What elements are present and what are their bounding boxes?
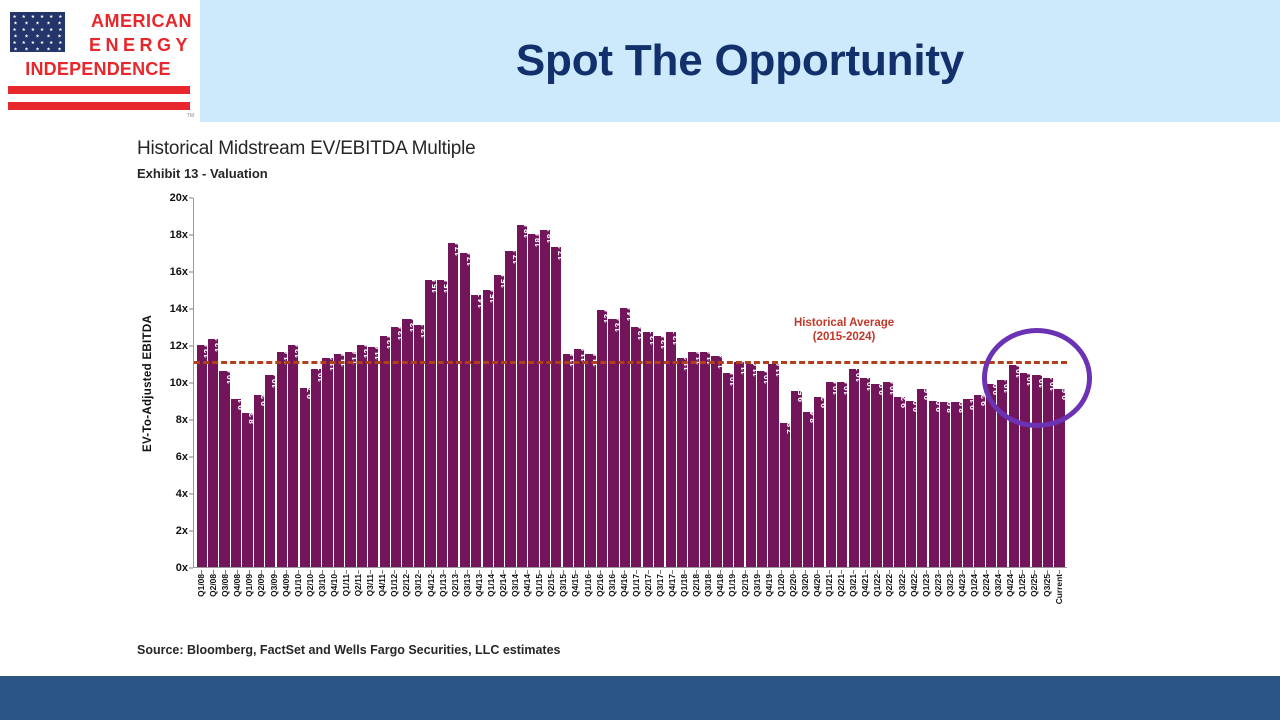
bar: 10.7x: [849, 369, 859, 567]
x-axis-tick-text: Q3/09: [269, 574, 279, 597]
bar: 10.2x: [860, 378, 870, 567]
logo-rule-bottom: [8, 102, 190, 110]
star-icon: [25, 34, 29, 38]
x-axis-tick-label: Q1/20: [775, 570, 786, 626]
x-axis-tick-label: Q3/24: [993, 570, 1004, 626]
x-axis-tick-label: Q2/19: [739, 570, 750, 626]
bar: 7.8x: [780, 423, 790, 567]
bar-value-label: 12.7x: [671, 325, 681, 346]
bar: 9.2x: [894, 397, 904, 567]
x-axis-tick-label: Q4/17: [667, 570, 678, 626]
star-icon: [13, 28, 17, 32]
historical-average-label-line1: Historical Average: [794, 316, 894, 330]
us-flag-icon: [10, 12, 65, 52]
chart-title: Historical Midstream EV/EBITDA Multiple: [137, 138, 1067, 160]
x-axis-tick-text: Q1/11: [341, 574, 351, 596]
bar: 12.7x: [643, 332, 653, 567]
x-axis-tick-text: Q3/24: [993, 574, 1003, 597]
bar: 12.7x: [666, 332, 676, 567]
bar: 10.0x: [837, 382, 847, 567]
y-axis-tick-label: 0x: [176, 562, 188, 574]
bar: 18.5x: [517, 225, 527, 567]
star-icon: [25, 47, 29, 51]
x-axis-tick-label: Q2/24: [981, 570, 992, 626]
star-icon: [22, 15, 26, 19]
x-axis-tick-text: Q1/10: [293, 574, 303, 597]
x-axis-tick-text: Q3/20: [800, 574, 810, 597]
bar-value-label: 10.6x: [225, 364, 235, 385]
x-axis-tick-label: Q4/12: [425, 570, 436, 626]
x-axis-tick-text: Q1/21: [824, 574, 834, 597]
bar: 10.4x: [265, 375, 275, 567]
x-axis-tick-text: Q1/17: [631, 574, 641, 597]
star-icon: [31, 28, 35, 32]
x-axis-tick-label: Q2/18: [691, 570, 702, 626]
x-axis-tick-label: Q4/16: [618, 570, 629, 626]
bar: 9.0x: [906, 401, 916, 568]
x-axis-tick-text: Q3/21: [848, 574, 858, 597]
x-axis-tick-text: Q4/12: [426, 574, 436, 597]
bar: 9.0x: [929, 401, 939, 568]
bar: 11.5x: [585, 354, 595, 567]
x-axis-tick-text: Q4/09: [281, 574, 291, 597]
x-axis-tick-text: Q2/22: [884, 574, 894, 597]
x-axis-tick-text: Q2/25: [1029, 574, 1039, 597]
y-axis-tick-label: 4x: [176, 488, 188, 500]
x-axis-tick-label: Q2/25: [1029, 570, 1040, 626]
bar-value-label: 12.3x: [213, 332, 223, 353]
historical-average-line: [194, 361, 1067, 364]
bar: 13.9x: [597, 310, 607, 567]
x-axis-tick-label: Q3/22: [896, 570, 907, 626]
x-axis-tick-text: Q2/15: [546, 574, 556, 597]
x-axis-tick-label: Q2/17: [642, 570, 653, 626]
x-axis-tick-label: Q1/11: [341, 570, 352, 626]
bar-value-label: 11.4x: [716, 349, 726, 369]
x-axis-tick-label: Q3/21: [848, 570, 859, 626]
logo-rule-top: [8, 86, 190, 94]
x-axis-tick-text: Q2/21: [836, 574, 846, 597]
brand-logo: AMERICAN ENERGY INDEPENDENCE TM: [0, 0, 200, 122]
bar: 15.5x: [437, 280, 447, 567]
x-axis-tick-text: Q4/20: [812, 574, 822, 597]
y-axis-title: EV-To-Adjusted EBITDA: [139, 198, 157, 568]
bar-value-label: 17.3x: [556, 240, 566, 261]
x-axis-tick-text: Q1/13: [438, 574, 448, 597]
x-axis-tick-label: Q3/20: [800, 570, 811, 626]
x-axis-tick-text: Q2/16: [595, 574, 605, 597]
star-icon: [47, 47, 51, 51]
x-axis-tick-text: Q4/23: [957, 574, 967, 597]
star-icon: [14, 47, 18, 51]
star-icon: [58, 15, 62, 19]
x-axis-tick-label: Q2/21: [836, 570, 847, 626]
x-axis-tick-text: Q2/20: [788, 574, 798, 597]
x-axis-tick-text: Q2/14: [498, 574, 508, 597]
y-axis-tick-label: 18x: [170, 229, 188, 241]
chart-subtitle: Exhibit 13 - Valuation: [137, 166, 1067, 181]
bar: 11.9x: [368, 347, 378, 567]
x-axis-tick-label: Q1/17: [630, 570, 641, 626]
x-axis-tick-label: Q4/13: [473, 570, 484, 626]
x-axis-tick-text: Q3/17: [655, 574, 665, 597]
bar: 9.6x: [917, 389, 927, 567]
x-axis-tick-text: Q4/24: [1005, 574, 1015, 597]
x-axis-tick-text: Q4/22: [909, 574, 919, 597]
x-axis-tick-label: Q4/08: [232, 570, 243, 626]
x-axis-tick-text: Q1/08: [196, 574, 206, 597]
bar: 11.3x: [677, 358, 687, 567]
x-axis-tick-text: Q1/24: [969, 574, 979, 597]
x-axis-tick-label: Q4/15: [570, 570, 581, 626]
bar: 15.5x: [425, 280, 435, 567]
x-axis-tick-label: Q3/11: [365, 570, 376, 626]
star-icon: [14, 34, 18, 38]
star-icon: [36, 34, 40, 38]
x-axis-tick-text: Q1/25: [1017, 574, 1027, 597]
bar-series: 12.0x12.3x10.6x9.1x8.3x9.3x10.4x11.6x12.…: [194, 198, 1067, 567]
bar: 15.0x: [483, 290, 493, 568]
x-axis-tick-text: Q3/11: [365, 574, 375, 596]
bar: 9.9x: [871, 384, 881, 567]
bar-value-label: 18.2x: [545, 223, 555, 244]
x-axis-tick-label: Q1/15: [534, 570, 545, 626]
x-axis-tick-text: Q3/12: [413, 574, 423, 597]
bar: 10.0x: [826, 382, 836, 567]
x-axis-tick-text: Q1/12: [389, 574, 399, 597]
bar: 9.7x: [300, 388, 310, 567]
star-icon: [31, 15, 35, 19]
bar: 11.6x: [700, 352, 710, 567]
bar: 15.8x: [494, 275, 504, 567]
bar: 9.2x: [814, 397, 824, 567]
bar: 10.5x: [723, 373, 733, 567]
x-axis-tick-text: Q3/16: [607, 574, 617, 597]
y-axis-tick-label: 8x: [176, 414, 188, 426]
bar: 9.1x: [231, 399, 241, 567]
x-axis-tick-text: Q3/08: [220, 574, 230, 597]
bar-value-label: 17.0x: [465, 245, 475, 266]
bar: 13.4x: [608, 319, 618, 567]
x-axis-tick-text: Q3/15: [558, 574, 568, 597]
x-axis-tick-text: Q1/15: [534, 574, 544, 597]
bar: 11.0x: [746, 364, 756, 568]
x-axis-tick-text: Q1/14: [486, 574, 496, 597]
y-axis-tick-label: 14x: [170, 303, 188, 315]
star-icon: [58, 21, 62, 25]
star-icon: [47, 21, 51, 25]
star-icon: [49, 15, 53, 19]
bar: 11.1x: [734, 362, 744, 567]
x-axis-tick-label: Q1/24: [969, 570, 980, 626]
flag-star-row: [10, 21, 65, 25]
x-axis-tick-label: Q1/10: [292, 570, 303, 626]
x-axis-tick-text: Q2/13: [450, 574, 460, 597]
x-axis-tick-text: Q2/17: [643, 574, 653, 597]
bar: 11.8x: [574, 349, 584, 567]
historical-average-annotation: Historical Average (2015-2024): [794, 316, 894, 345]
bar-value-label: 11.0x: [774, 356, 784, 376]
x-axis-tick-label: Q4/20: [812, 570, 823, 626]
x-axis-ticks: Q1/08Q2/08Q3/08Q4/08Q1/09Q2/09Q3/09Q4/09…: [193, 570, 1067, 626]
x-axis-tick-text: Current: [1054, 574, 1064, 604]
x-axis-tick-label: Q1/09: [244, 570, 255, 626]
flag-star-row: [10, 41, 65, 45]
x-axis-tick-text: Q2/11: [353, 574, 363, 596]
x-axis-tick-text: Q2/12: [401, 574, 411, 597]
bar: 10.0x: [883, 382, 893, 567]
x-axis-tick-label: Q4/24: [1005, 570, 1016, 626]
chart-figure: Historical Midstream EV/EBITDA Multiple …: [137, 138, 1067, 673]
x-axis-tick-label: Q2/12: [401, 570, 412, 626]
x-axis-tick-text: Q3/14: [510, 574, 520, 597]
bar: 14.0x: [620, 308, 630, 567]
x-axis-tick-text: Q1/16: [583, 574, 593, 597]
bar: 9.9x: [986, 384, 996, 567]
y-axis-tick-label: 12x: [170, 340, 188, 352]
x-axis-tick-label: Q2/23: [932, 570, 943, 626]
bar: 8.4x: [803, 412, 813, 567]
bar: 11.0x: [768, 364, 778, 568]
bar: 12.3x: [208, 339, 218, 567]
bar: 12.5x: [380, 336, 390, 567]
x-axis-tick-label: Q3/23: [944, 570, 955, 626]
x-axis-tick-text: Q1/23: [921, 574, 931, 597]
bar: 17.5x: [448, 243, 458, 567]
star-icon: [36, 47, 40, 51]
bar-value-label: 14.0x: [625, 301, 635, 322]
bar: 18.2x: [540, 230, 550, 567]
y-axis-ticks: 0x2x4x6x8x10x12x14x16x18x20x: [157, 198, 193, 568]
bar: 9.1x: [963, 399, 973, 567]
star-icon: [40, 28, 44, 32]
x-axis-tick-text: Q4/16: [619, 574, 629, 597]
star-icon: [14, 21, 18, 25]
x-axis-tick-label: Q4/10: [328, 570, 339, 626]
star-icon: [36, 21, 40, 25]
flag-star-row: [10, 28, 65, 32]
star-icon: [58, 41, 62, 45]
x-axis-tick-label: Q3/08: [220, 570, 231, 626]
bar: 12.0x: [197, 345, 207, 567]
star-icon: [47, 34, 51, 38]
x-axis-tick-text: Q3/22: [897, 574, 907, 597]
x-axis-tick-text: Q1/18: [679, 574, 689, 597]
x-axis-tick-label: Q4/14: [522, 570, 533, 626]
bar-value-label: 10.0x: [888, 375, 898, 396]
bar: 10.7x: [311, 369, 321, 567]
star-icon: [49, 41, 53, 45]
x-axis-tick-text: Q2/08: [208, 574, 218, 597]
x-axis-tick-label: Q3/09: [268, 570, 279, 626]
x-axis-tick-text: Q2/10: [305, 574, 315, 597]
logo-word-american: AMERICAN: [70, 12, 192, 30]
bar: 14.7x: [471, 295, 481, 567]
x-axis-tick-label: Q2/16: [594, 570, 605, 626]
x-axis-tick-label: Q2/09: [256, 570, 267, 626]
x-axis-tick-label: Q3/19: [751, 570, 762, 626]
bar: 10.6x: [757, 371, 767, 567]
bar: 17.0x: [460, 253, 470, 568]
bar: 11.6x: [277, 352, 287, 567]
flag-star-row: [10, 15, 65, 19]
x-axis-tick-label: Q1/13: [437, 570, 448, 626]
flag-star-row: [10, 47, 65, 51]
star-icon: [40, 15, 44, 19]
y-axis-tick-label: 10x: [170, 377, 188, 389]
bar: 12.0x: [357, 345, 367, 567]
logo-trademark: TM: [187, 113, 194, 119]
x-axis-tick-text: Q4/11: [377, 574, 387, 596]
x-axis-tick-label: Q3/14: [510, 570, 521, 626]
bar: 11.5x: [563, 354, 573, 567]
chart-source: Source: Bloomberg, FactSet and Wells Far…: [137, 643, 561, 657]
x-axis-tick-label: Q1/19: [727, 570, 738, 626]
x-axis-tick-text: Q4/10: [329, 574, 339, 597]
slide-footer-band: [0, 676, 1280, 720]
plot-area: EV-To-Adjusted EBITDA 0x2x4x6x8x10x12x14…: [137, 198, 1067, 628]
star-icon: [22, 41, 26, 45]
x-axis-tick-label: Q2/20: [787, 570, 798, 626]
x-axis-tick-text: Q4/21: [860, 574, 870, 597]
x-axis-tick-label: Q1/12: [389, 570, 400, 626]
x-axis-tick-label: Q3/10: [316, 570, 327, 626]
x-axis-tick-label: Q1/25: [1017, 570, 1028, 626]
x-axis-tick-text: Q1/19: [727, 574, 737, 597]
bar: 9.5x: [791, 391, 801, 567]
x-axis-tick-text: Q4/18: [715, 574, 725, 597]
plot-canvas: 12.0x12.3x10.6x9.1x8.3x9.3x10.4x11.6x12.…: [193, 198, 1067, 568]
y-axis-tick-label: 2x: [176, 525, 188, 537]
x-axis-tick-label: Q2/13: [449, 570, 460, 626]
x-axis-tick-label: Q4/19: [763, 570, 774, 626]
star-icon: [13, 41, 17, 45]
x-axis-tick-text: Q3/19: [752, 574, 762, 597]
x-axis-tick-label: Q2/15: [546, 570, 557, 626]
x-axis-tick-label: Q4/21: [860, 570, 871, 626]
x-axis-tick-text: Q4/17: [667, 574, 677, 597]
bar: 18.0x: [528, 234, 538, 567]
star-icon: [22, 28, 26, 32]
x-axis-tick-label: Q1/23: [920, 570, 931, 626]
x-axis-tick-label: Q1/18: [679, 570, 690, 626]
x-axis-tick-label: Q4/23: [957, 570, 968, 626]
flag-star-row: [10, 34, 65, 38]
x-axis-tick-label: Q1/16: [582, 570, 593, 626]
x-axis-tick-text: Q2/23: [933, 574, 943, 597]
bar: 8.9x: [951, 402, 961, 567]
x-axis-tick-text: Q4/19: [764, 574, 774, 597]
x-axis-tick-label: Q3/13: [461, 570, 472, 626]
x-axis-tick-label: Q2/11: [353, 570, 364, 626]
star-icon: [58, 28, 62, 32]
x-axis-tick-label: Q3/16: [606, 570, 617, 626]
logo-word-energy: ENERGY: [70, 36, 192, 54]
bar: 12.0x: [288, 345, 298, 567]
slide-header: AMERICAN ENERGY INDEPENDENCE TM Spot The…: [0, 0, 1280, 122]
x-axis-tick-text: Q3/18: [703, 574, 713, 597]
x-axis-tick-text: Q2/24: [981, 574, 991, 597]
x-axis-tick-label: Q4/18: [715, 570, 726, 626]
x-axis-tick-label: Current: [1053, 570, 1064, 626]
bar-value-label: 12.0x: [293, 338, 303, 359]
page-title: Spot The Opportunity: [200, 0, 1280, 122]
bar: 8.9x: [940, 402, 950, 567]
x-axis-tick-text: Q3/23: [945, 574, 955, 597]
bar: 11.5x: [334, 354, 344, 567]
x-axis-tick-label: Q3/17: [655, 570, 666, 626]
bar-value-label: 9.6x: [922, 384, 932, 400]
bar: 10.6x: [219, 371, 229, 567]
x-axis-tick-label: Q3/18: [703, 570, 714, 626]
star-icon: [49, 28, 53, 32]
x-axis-tick-label: Q4/22: [908, 570, 919, 626]
bar: 11.3x: [322, 358, 332, 567]
x-axis-tick-label: Q3/25: [1041, 570, 1052, 626]
x-axis-tick-label: Q4/11: [377, 570, 388, 626]
logo-word-independence: INDEPENDENCE: [4, 60, 192, 78]
star-icon: [40, 41, 44, 45]
x-axis-tick-text: Q4/14: [522, 574, 532, 597]
bar: 12.5x: [654, 336, 664, 567]
historical-average-label-line2: (2015-2024): [794, 330, 894, 344]
opportunity-highlight-ellipse: [982, 328, 1093, 428]
x-axis-tick-text: Q3/10: [317, 574, 327, 597]
bar-value-label: 9.5x: [796, 386, 806, 402]
bar-value-label: 9.1x: [236, 394, 246, 410]
x-axis-tick-text: Q2/09: [256, 574, 266, 597]
x-axis-tick-text: Q2/18: [691, 574, 701, 597]
x-axis-tick-label: Q2/10: [304, 570, 315, 626]
x-axis-tick-text: Q3/25: [1042, 574, 1052, 597]
star-icon: [58, 47, 62, 51]
y-axis-tick-label: 6x: [176, 451, 188, 463]
x-axis-tick-label: Q2/14: [498, 570, 509, 626]
x-axis-tick-text: Q4/15: [570, 574, 580, 597]
x-axis-tick-label: Q1/21: [824, 570, 835, 626]
star-icon: [58, 34, 62, 38]
x-axis-tick-label: Q2/08: [208, 570, 219, 626]
bar: 17.3x: [551, 247, 561, 567]
bar: 9.3x: [974, 395, 984, 567]
x-axis-tick-text: Q1/20: [776, 574, 786, 597]
x-axis-tick-label: Q3/15: [558, 570, 569, 626]
x-axis-tick-text: Q4/13: [474, 574, 484, 597]
x-axis-tick-text: Q1/22: [872, 574, 882, 597]
x-axis-tick-label: Q4/09: [280, 570, 291, 626]
x-axis-tick-label: Q3/12: [413, 570, 424, 626]
x-axis-tick-label: Q1/08: [196, 570, 207, 626]
y-axis-tick-label: 20x: [170, 192, 188, 204]
bar: 11.6x: [688, 352, 698, 567]
star-icon: [31, 41, 35, 45]
bar: 17.1x: [505, 251, 515, 567]
bar: 11.4x: [711, 356, 721, 567]
star-icon: [13, 15, 17, 19]
x-axis-tick-label: Q1/14: [485, 570, 496, 626]
bar: 13.4x: [402, 319, 412, 567]
x-axis-tick-text: Q3/13: [462, 574, 472, 597]
bar: 11.6x: [345, 352, 355, 567]
bar: 8.3x: [242, 413, 252, 567]
y-axis-tick-label: 16x: [170, 266, 188, 278]
x-axis-tick-text: Q2/19: [740, 574, 750, 597]
x-axis-tick-label: Q2/22: [884, 570, 895, 626]
star-icon: [25, 21, 29, 25]
x-axis-tick-text: Q1/09: [244, 574, 254, 597]
x-axis-tick-text: Q4/08: [232, 574, 242, 597]
x-axis-tick-label: Q1/22: [872, 570, 883, 626]
